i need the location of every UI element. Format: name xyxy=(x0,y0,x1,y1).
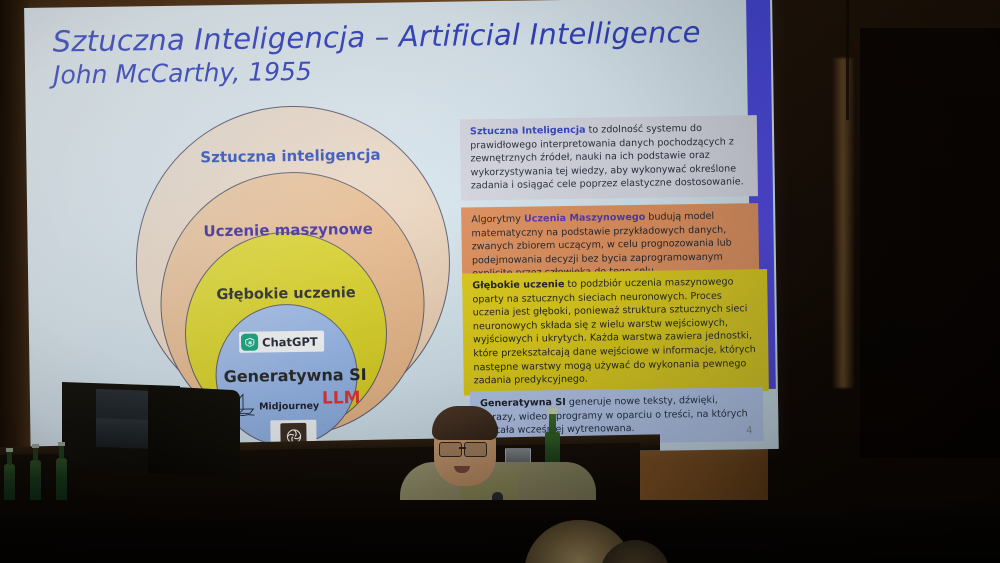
textbox-dl-body: to podzbiór uczenia maszynowego oparty n… xyxy=(472,277,756,387)
midjourney-label: Midjourney xyxy=(259,401,319,413)
chatgpt-logo: ChatGPT xyxy=(239,331,324,353)
textbox-dl-highlight: Głębokie uczenie xyxy=(472,279,564,291)
wall-pillar-highlight xyxy=(832,58,854,388)
bottle xyxy=(56,458,67,506)
chatgpt-label: ChatGPT xyxy=(262,334,318,349)
textbox-ml-prefix: Algorytmy xyxy=(471,214,524,226)
bottle-neck xyxy=(33,447,38,461)
openai-swirl-icon xyxy=(241,334,258,351)
presenter-hair xyxy=(432,406,498,440)
slide-page-number: 4 xyxy=(746,425,753,436)
page-title: Sztuczna Inteligencja – Artificial Intel… xyxy=(52,16,712,58)
ring-label-genai: Generatywna SI xyxy=(223,365,366,386)
photo-scene: Sztuczna Inteligencja – Artificial Intel… xyxy=(0,0,1000,563)
slide-title-block: Sztuczna Inteligencja – Artificial Intel… xyxy=(52,16,713,91)
stage-foreground xyxy=(0,500,1000,563)
bottle-cap xyxy=(32,444,39,448)
bottle-cap xyxy=(6,448,13,452)
ring-label-ml: Uczenie maszynowe xyxy=(203,220,373,241)
textbox-dl: Głębokie uczenie to podzbiór uczenia mas… xyxy=(462,269,769,395)
eyeglasses-right-lens xyxy=(464,442,487,457)
textbox-ai-highlight: Sztuczna Inteligencja xyxy=(470,125,586,138)
ring-label-ai: Sztuczna inteligencja xyxy=(200,146,380,167)
eyeglasses-bridge xyxy=(459,447,466,449)
bottle-neck xyxy=(7,451,12,465)
textbox-ml-highlight: Uczenia Maszynowego xyxy=(524,212,645,225)
page-subtitle: John McCarthy, 1955 xyxy=(53,51,713,91)
bottle-cap xyxy=(58,442,65,446)
textbox-ai: Sztuczna Inteligencja to zdolność system… xyxy=(460,115,758,200)
midjourney-logo: Midjourney xyxy=(230,392,320,422)
wall-panel-dark xyxy=(860,28,1000,458)
laptop xyxy=(148,386,240,479)
wall-seam xyxy=(846,0,849,120)
ring-label-dl: Głębokie uczenie xyxy=(216,285,356,303)
bottle-neck xyxy=(59,445,64,459)
eyeglasses-left-lens xyxy=(439,442,462,457)
llm-label: LLM xyxy=(322,388,361,409)
